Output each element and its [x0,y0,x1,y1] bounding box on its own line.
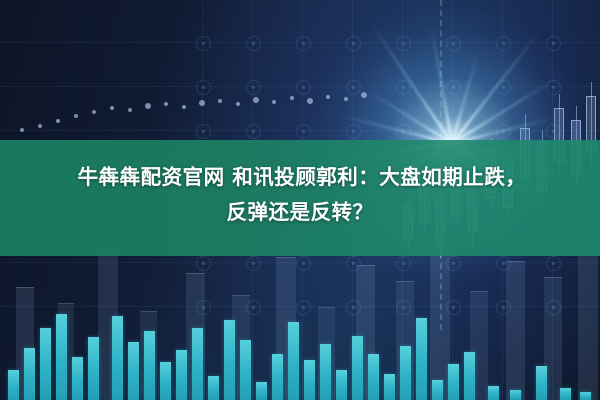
volume-bar [40,328,51,400]
volume-bar [536,366,547,400]
volume-bar [400,346,411,400]
volume-bar [72,357,83,400]
volume-bar [288,322,299,400]
volume-bar [56,314,67,400]
volume-bar [464,352,475,400]
volume-bar [88,337,99,400]
volume-bar [24,348,35,400]
volume-bar [128,342,139,400]
headline-line-2: 反弹还是反转？ [0,195,600,230]
volume-bar [580,392,591,400]
volume-bar [432,380,443,400]
volume-bar [272,354,283,400]
banner-image: 牛犇犇配资官网 和讯投顾郭利：大盘如期止跌， 反弹还是反转？ [0,0,600,400]
volume-bar [510,390,521,400]
volume-bar [416,318,427,400]
volume-bar [240,340,251,400]
volume-bar [368,354,379,400]
volume-bar [112,316,123,400]
volume-bar [176,350,187,400]
volume-bar [208,376,219,400]
headline-line-1: 牛犇犇配资官网 和讯投顾郭利：大盘如期止跌， [0,160,600,195]
volume-bar [224,320,235,400]
volume-bar [560,388,571,400]
volume-bar [192,328,203,400]
volume-bar [384,374,395,400]
volume-bar [352,336,363,400]
volume-bar [160,362,171,400]
page-title: 牛犇犇配资官网 和讯投顾郭利：大盘如期止跌， 反弹还是反转？ [0,160,600,230]
volume-bar [488,386,499,400]
volume-bar [336,370,347,400]
volume-bar [8,370,19,400]
volume-bar [320,344,331,400]
volume-bar [448,364,459,400]
volume-bar [304,360,315,400]
volume-bar [144,331,155,400]
volume-bar [256,382,267,400]
